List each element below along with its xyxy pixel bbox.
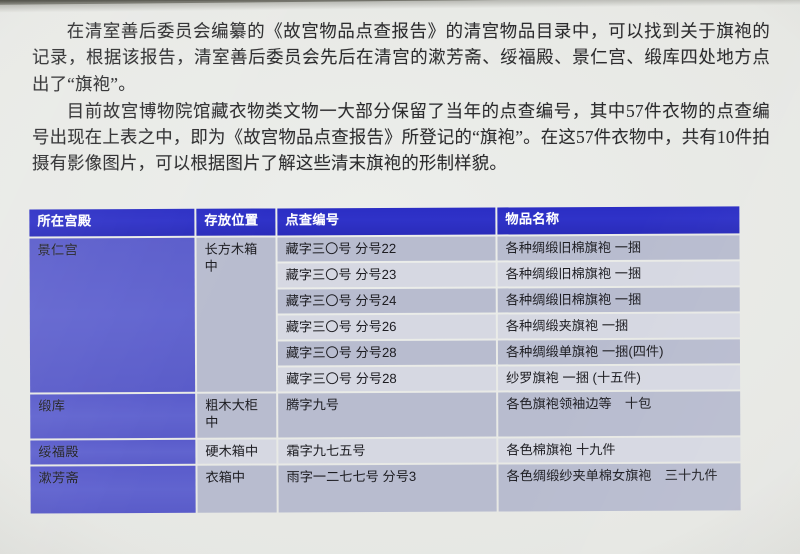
table-row: 缎库 粗木大柜中 腾字九号 各色旗袍领袖边等 十包 (30, 391, 740, 438)
cell-item: 各种绸缎单旗袍 一捆(四件) (498, 339, 740, 364)
inventory-table: 所在宫殿 存放位置 点查编号 物品名称 景仁宫 长方木箱中 藏字三〇号 分号22… (27, 204, 742, 515)
table-row: 绥福殿 硬木箱中 霜字九七五号 各色棉旗袍 十九件 (30, 437, 740, 464)
cell-number: 霜字九七五号 (278, 438, 496, 463)
cell-item: 各种绸缎旧棉旗袍 一捆 (498, 261, 740, 286)
cell-number: 藏字三〇号 分号24 (278, 288, 496, 313)
column-header-location: 存放位置 (196, 208, 275, 235)
table-header: 所在宫殿 存放位置 点查编号 物品名称 (29, 206, 739, 236)
body-text-block: 在清室善后委员会编纂的《故宫物品点查报告》的清宫物品目录中，可以找到关于旗袍的记… (32, 18, 770, 178)
cell-number: 藏字三〇号 分号26 (278, 314, 496, 339)
table-header-row: 所在宫殿 存放位置 点查编号 物品名称 (29, 206, 739, 236)
table-row: 漱芳斋 衣箱中 雨字一二七七号 分号3 各色绸缎纱夹单棉女旗袍 三十九件 (30, 463, 740, 513)
cell-item: 各种绸缎旧棉旗袍 一捆 (497, 235, 739, 260)
cell-item: 各种绸缎旧棉旗袍 一捆 (498, 287, 740, 312)
cell-number: 藏字三〇号 分号23 (278, 262, 496, 287)
cell-location: 硬木箱中 (197, 439, 276, 463)
slide-photo: 在清室善后委员会编纂的《故宫物品点查报告》的清宫物品目录中，可以找到关于旗袍的记… (0, 0, 800, 554)
table-body: 景仁宫 长方木箱中 藏字三〇号 分号22 各种绸缎旧棉旗袍 一捆 藏字三〇号 分… (29, 235, 740, 513)
column-header-number: 点查编号 (277, 207, 495, 235)
cell-number: 腾字九号 (278, 392, 496, 437)
paragraph-2: 目前故宫博物院馆藏衣物类文物一大部分保留了当年的点查编号，其中57件衣物的点查编… (32, 98, 770, 177)
column-header-palace: 所在宫殿 (29, 209, 194, 237)
cell-location: 粗木大柜中 (197, 393, 276, 437)
cell-location: 长方木箱中 (196, 237, 276, 391)
inventory-table-container: 所在宫殿 存放位置 点查编号 物品名称 景仁宫 长方木箱中 藏字三〇号 分号22… (27, 204, 732, 515)
cell-palace: 绥福殿 (30, 440, 195, 465)
cell-number: 雨字一二七七号 分号3 (278, 464, 496, 512)
cell-item: 纱罗旗袍 一捆 (十五件) (498, 365, 740, 390)
column-header-item: 物品名称 (497, 206, 739, 234)
cell-item: 各色棉旗袍 十九件 (498, 437, 740, 462)
cell-palace: 缎库 (30, 394, 195, 439)
cell-location: 衣箱中 (197, 465, 276, 512)
paragraph-1: 在清室善后委员会编纂的《故宫物品点查报告》的清宫物品目录中，可以找到关于旗袍的记… (32, 18, 770, 97)
cell-number: 藏字三〇号 分号28 (278, 366, 496, 391)
cell-number: 藏字三〇号 分号22 (277, 236, 495, 261)
cell-number: 藏字三〇号 分号28 (278, 340, 496, 365)
cell-palace: 漱芳斋 (30, 466, 195, 514)
table-row: 景仁宫 长方木箱中 藏字三〇号 分号22 各种绸缎旧棉旗袍 一捆 (29, 235, 739, 262)
cell-item: 各种绸缎夹旗袍 一捆 (498, 313, 740, 338)
screen-top-edge-falloff (0, 0, 800, 13)
cell-item: 各色旗袍领袖边等 十包 (498, 391, 740, 436)
cell-item: 各色绸缎纱夹单棉女旗袍 三十九件 (498, 463, 740, 511)
cell-palace: 景仁宫 (29, 238, 195, 393)
